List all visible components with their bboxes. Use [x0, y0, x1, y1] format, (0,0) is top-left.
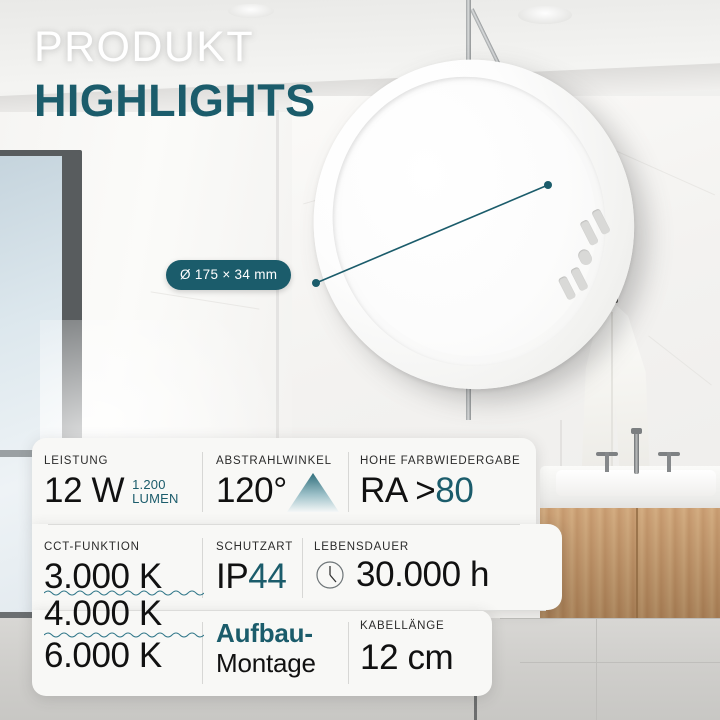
- spec-cct-4000-value: 4.000 K: [44, 594, 162, 634]
- product-highlight-image: PRODUKT HIGHLIGHTS Ø 175 × 34 mm: [0, 0, 720, 720]
- spec-beam-angle: ABSTRAHLWINKEL 120°: [216, 455, 341, 511]
- spec-cct-6000-value: 6.000 K: [44, 636, 162, 676]
- spec-lifetime-label: LEBENSDAUER: [314, 541, 489, 553]
- spec-cri-accent: 80: [435, 471, 473, 510]
- spec-cct-label: CCT-FUNKTION: [44, 541, 162, 553]
- clock-icon: [314, 559, 346, 591]
- spec-cri-prefix: RA >: [360, 471, 435, 510]
- divider-power-angle: [202, 452, 203, 512]
- spec-protection-label: SCHUTZART: [216, 541, 293, 553]
- spec-cct-6000: 6.000 K: [44, 636, 162, 676]
- spec-power: LEISTUNG 12 W 1.200 LUMEN: [44, 455, 179, 511]
- spec-lumen-value: 1.200: [132, 478, 179, 492]
- spec-mounting-rest: Montage: [216, 648, 316, 678]
- spec-lifetime-value: 30.000 h: [356, 555, 489, 595]
- spec-lifetime: LEBENSDAUER 30.000 h: [314, 541, 489, 595]
- divider-row1-row2: [48, 524, 520, 525]
- spec-mounting: Aufbau- Montage: [216, 618, 316, 678]
- spec-beam-angle-value: 120°: [216, 471, 287, 511]
- spec-cct-4000: 4.000 K: [44, 594, 162, 634]
- spec-cri-value: RA >80: [360, 471, 521, 511]
- spec-lumen-unit: LUMEN: [132, 492, 179, 506]
- spec-protection-value: IP44: [216, 557, 293, 597]
- spec-cri-label: HOHE FARBWIEDERGABE: [360, 455, 521, 467]
- spec-protection-accent: 44: [248, 557, 286, 596]
- spec-protection-prefix: IP: [216, 557, 248, 596]
- spec-beam-angle-label: ABSTRAHLWINKEL: [216, 455, 341, 467]
- divider-angle-cri: [348, 452, 349, 512]
- spec-power-value: 12 W: [44, 471, 124, 511]
- spec-cable-length: KABELLÄNGE 12 cm: [360, 620, 453, 678]
- dimension-badge: Ø 175 × 34 mm: [166, 260, 291, 290]
- spec-protection: SCHUTZART IP44: [216, 541, 293, 597]
- divider-mount-cable: [348, 622, 349, 684]
- spec-color-rendering: HOHE FARBWIEDERGABE RA >80: [360, 455, 521, 511]
- spec-cable-label: KABELLÄNGE: [360, 620, 453, 632]
- spec-cable-value: 12 cm: [360, 638, 453, 678]
- spec-power-label: LEISTUNG: [44, 455, 179, 467]
- beam-angle-triangle-icon: [285, 471, 341, 513]
- spec-mounting-accent: Aufbau-: [216, 618, 316, 648]
- divider-ip-lifetime: [302, 538, 303, 598]
